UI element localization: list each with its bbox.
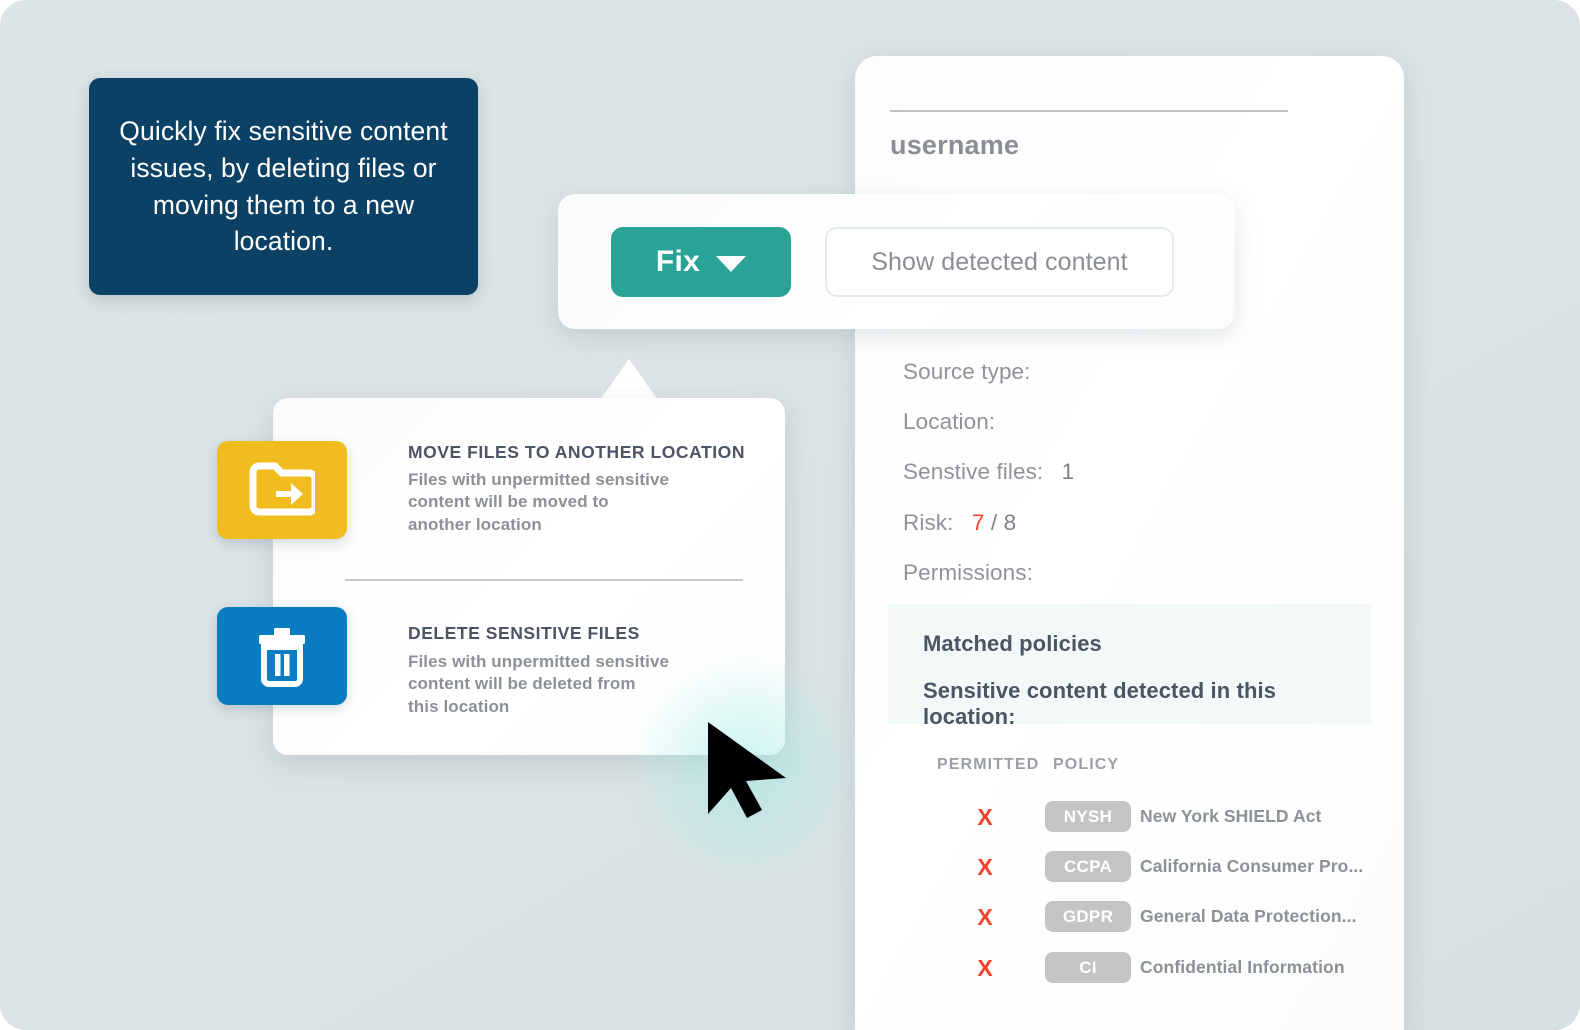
callout-tooltip: Quickly fix sensitive content issues, by…: [89, 78, 478, 295]
show-detected-content-label: Show detected content: [871, 248, 1127, 277]
meta-row-source-type: Source type:: [903, 359, 1031, 385]
panel-username: username: [890, 130, 1019, 161]
matched-policies-box: Matched policies Sensitive content detec…: [888, 604, 1371, 724]
callout-text: Quickly fix sensitive content issues, by…: [111, 113, 456, 259]
dropdown-item-title-delete: DELETE SENSITIVE FILES: [408, 623, 640, 644]
meta-label-source-type: Source type:: [903, 359, 1031, 384]
permitted-x-icon: X: [937, 854, 1033, 881]
meta-value-sensitive-files: 1: [1062, 459, 1075, 484]
policy-code-badge: GDPR: [1045, 901, 1131, 932]
dropdown-item-description-move: Files with unpermitted sensitive content…: [408, 469, 670, 536]
policy-column-policy: POLICY: [1053, 756, 1119, 774]
dropdown-divider: [345, 579, 743, 581]
policy-name: New York SHIELD Act: [1140, 806, 1321, 827]
move-folder-icon[interactable]: [217, 441, 347, 539]
meta-label-sensitive-files: Senstive files:: [903, 459, 1043, 484]
policy-name: California Consumer Pro...: [1140, 856, 1363, 877]
policy-name: Confidential Information: [1140, 957, 1345, 978]
meta-row-sensitive-files: Senstive files: 1: [903, 459, 1074, 485]
policy-code-badge: CCPA: [1045, 851, 1131, 882]
move-folder-glyph: [249, 462, 315, 518]
table-row[interactable]: X NYSH New York SHIELD Act: [855, 804, 1404, 854]
panel-top-divider: [890, 110, 1288, 112]
permitted-x-icon: X: [937, 804, 1033, 831]
chevron-down-icon: [716, 256, 746, 272]
policy-name: General Data Protection...: [1140, 906, 1357, 927]
meta-label-location: Location:: [903, 409, 995, 434]
meta-row-permissions: Permissions:: [903, 560, 1033, 586]
table-row[interactable]: X GDPR General Data Protection...: [855, 904, 1404, 954]
trash-glyph: [254, 625, 310, 687]
policy-column-permitted: PERMITTED: [937, 756, 1033, 774]
meta-row-location: Location:: [903, 409, 995, 435]
meta-row-risk: Risk: 7 / 8: [903, 510, 1016, 536]
policy-code-badge: NYSH: [1045, 801, 1131, 832]
fix-button[interactable]: Fix: [611, 227, 791, 297]
permitted-x-icon: X: [937, 904, 1033, 931]
meta-value-risk-max: 8: [1004, 510, 1017, 535]
table-row[interactable]: X CCPA California Consumer Pro...: [855, 854, 1404, 904]
dropdown-item-description-delete: Files with unpermitted sensitive content…: [408, 651, 670, 718]
permitted-x-icon: X: [937, 955, 1033, 982]
matched-policies-title: Matched policies: [923, 631, 1102, 657]
fix-button-label: Fix: [656, 245, 700, 279]
table-row[interactable]: X CI Confidential Information: [855, 955, 1404, 1005]
show-detected-content-button[interactable]: Show detected content: [825, 227, 1174, 297]
policy-code-badge: CI: [1045, 952, 1131, 983]
dropdown-tail: [600, 359, 658, 400]
dropdown-item-title-move: MOVE FILES TO ANOTHER LOCATION: [408, 442, 745, 463]
trash-icon[interactable]: [217, 607, 347, 705]
meta-label-permissions: Permissions:: [903, 560, 1033, 585]
meta-label-risk: Risk:: [903, 510, 954, 535]
action-toolbar: Fix Show detected content: [558, 194, 1235, 329]
matched-policies-subtitle: Sensitive content detected in this locat…: [923, 678, 1371, 730]
meta-value-risk-score: 7: [972, 510, 985, 535]
screenshot-root: Quickly fix sensitive content issues, by…: [0, 0, 1580, 1030]
mouse-pointer-icon: [700, 718, 796, 818]
